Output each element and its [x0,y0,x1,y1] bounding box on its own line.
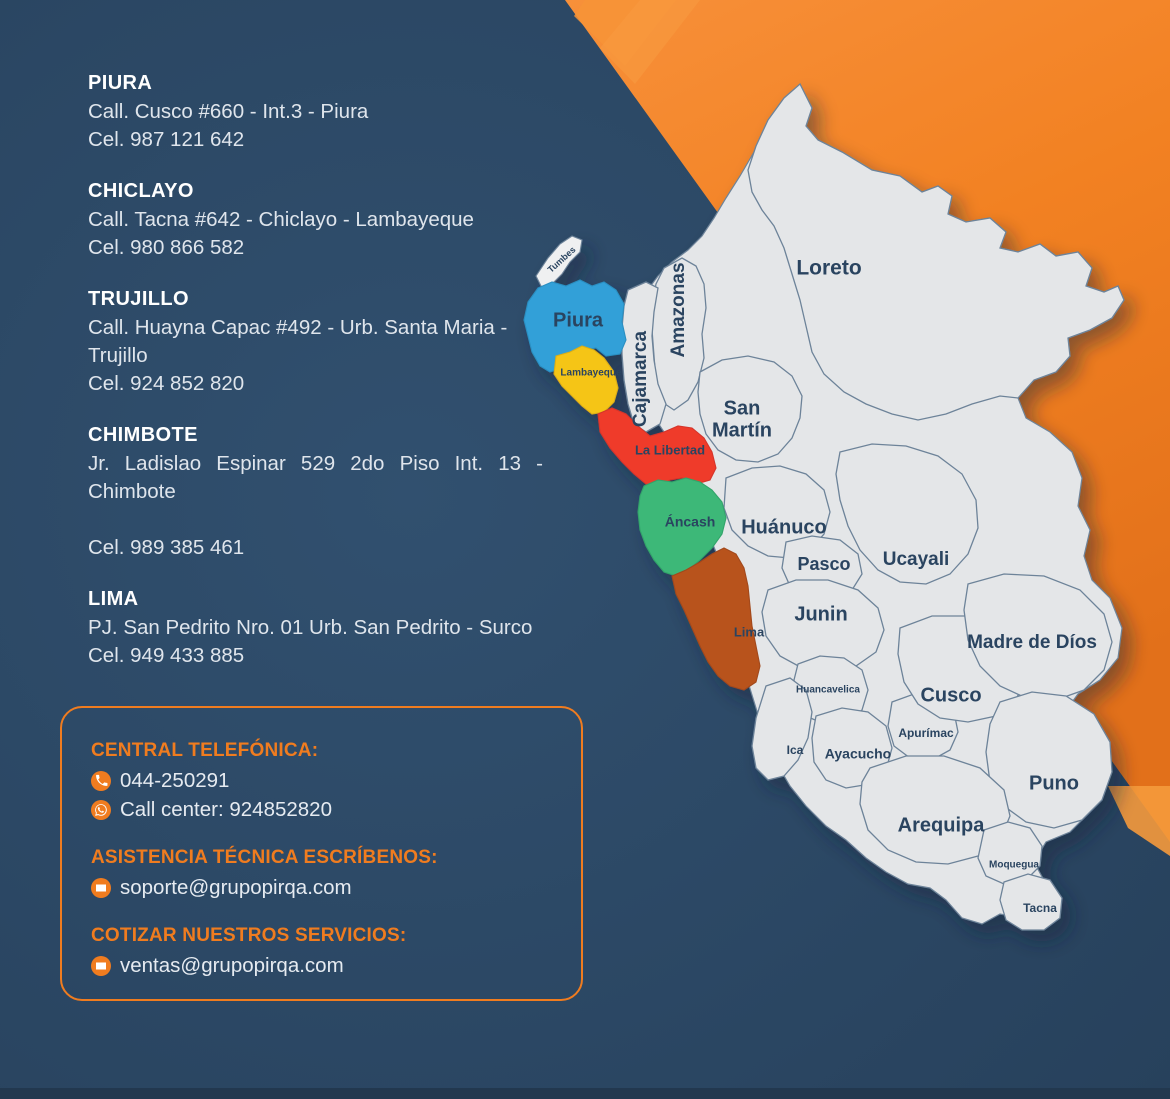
poster-canvas: PIURA Call. Cusco #660 - Int.3 - Piura C… [0,0,1170,1099]
support-email: soporte@grupopirqa.com [120,873,352,902]
sales-email-row[interactable]: ventas@grupopirqa.com [91,951,581,980]
label-puno: Puno [1029,772,1079,794]
label-huancavelica: Huancavelica [796,685,860,696]
office-chiclayo: CHICLAYO Call. Tacna #642 - Chiclayo - L… [88,180,543,262]
label-san-martin: San [724,397,761,419]
sales-email: ventas@grupopirqa.com [120,951,344,980]
whatsapp-icon [91,800,111,820]
office-name: PIURA [88,72,543,95]
office-piura: PIURA Call. Cusco #660 - Int.3 - Piura C… [88,72,543,154]
label-cusco: Cusco [920,684,981,706]
office-name: TRUJILLO [88,288,543,311]
label-tacna: Tacna [1023,901,1057,915]
office-phone: Cel. 989 385 461 [88,534,543,562]
contact-group-support: ASISTENCIA TÉCNICA ESCRÍBENOS: soporte@g… [91,847,581,902]
office-trujillo: TRUJILLO Call. Huayna Capac #492 - Urb. … [88,288,543,398]
map-landmass [524,84,1124,930]
label-ayacucho: Ayacucho [825,746,891,762]
office-address: Call. Tacna #642 - Chiclayo - Lambayeque [88,206,543,234]
label-ucayali: Ucayali [883,549,950,570]
whatsapp-number: Call center: 924852820 [120,795,332,824]
label-junin: Junin [794,603,847,625]
label-cajamarca: Cajamarca [630,331,651,428]
office-name: CHICLAYO [88,180,543,203]
contact-card: CENTRAL TELEFÓNICA: 044-250291 [60,706,583,1001]
group-heading: ASISTENCIA TÉCNICA ESCRÍBENOS: [91,847,581,869]
label-ica: Ica [787,743,804,757]
label-lima: Lima [734,624,765,639]
office-address: Call. Huayna Capac #492 - Urb. Santa Mar… [88,314,543,370]
office-address: Call. Cusco #660 - Int.3 - Piura [88,98,543,126]
office-name: CHIMBOTE [88,424,543,447]
office-lima: LIMA PJ. San Pedrito Nro. 01 Urb. San Pe… [88,588,543,670]
office-address: Jr. Ladislao Espinar 529 2do Piso Int. 1… [88,450,543,534]
label-apurimac: Apurímac [898,726,954,740]
office-address: PJ. San Pedrito Nro. 01 Urb. San Pedrito… [88,614,543,642]
label-piura: Piura [553,309,604,331]
label-ancash: Áncash [665,514,716,530]
label-arequipa: Arequipa [898,814,986,836]
label-moquegua: Moquegua [989,860,1039,871]
label-la-libertad: La Libertad [635,442,705,457]
label-loreto: Loreto [796,257,861,280]
office-phone: Cel. 949 433 885 [88,642,543,670]
label-huanuco: Huánuco [741,516,827,538]
phone-number: 044-250291 [120,766,229,795]
phone-icon [91,771,111,791]
office-phone: Cel. 980 866 582 [88,234,543,262]
office-name: LIMA [88,588,543,611]
mail-icon [91,956,111,976]
office-phone: Cel. 924 852 820 [88,370,543,398]
contact-group-sales: COTIZAR NUESTROS SERVICIOS: ventas@grupo… [91,925,581,980]
offices-list: PIURA Call. Cusco #660 - Int.3 - Piura C… [88,72,543,696]
group-heading: COTIZAR NUESTROS SERVICIOS: [91,925,581,947]
label-madre-de-dios: Madre de Díos [967,632,1097,653]
label-amazonas: Amazonas [668,262,689,357]
support-email-row[interactable]: soporte@grupopirqa.com [91,873,581,902]
label-san-martin-2: Martín [712,419,772,441]
label-pasco: Pasco [797,554,850,574]
phone-row[interactable]: 044-250291 [91,766,581,795]
office-chimbote: CHIMBOTE Jr. Ladislao Espinar 529 2do Pi… [88,424,543,562]
contact-group-central: CENTRAL TELEFÓNICA: 044-250291 [91,740,581,824]
office-phone: Cel. 987 121 642 [88,126,543,154]
mail-icon [91,878,111,898]
group-heading: CENTRAL TELEFÓNICA: [91,740,581,762]
whatsapp-row[interactable]: Call center: 924852820 [91,795,581,824]
label-lambayeque: Lambayeque [560,368,622,379]
